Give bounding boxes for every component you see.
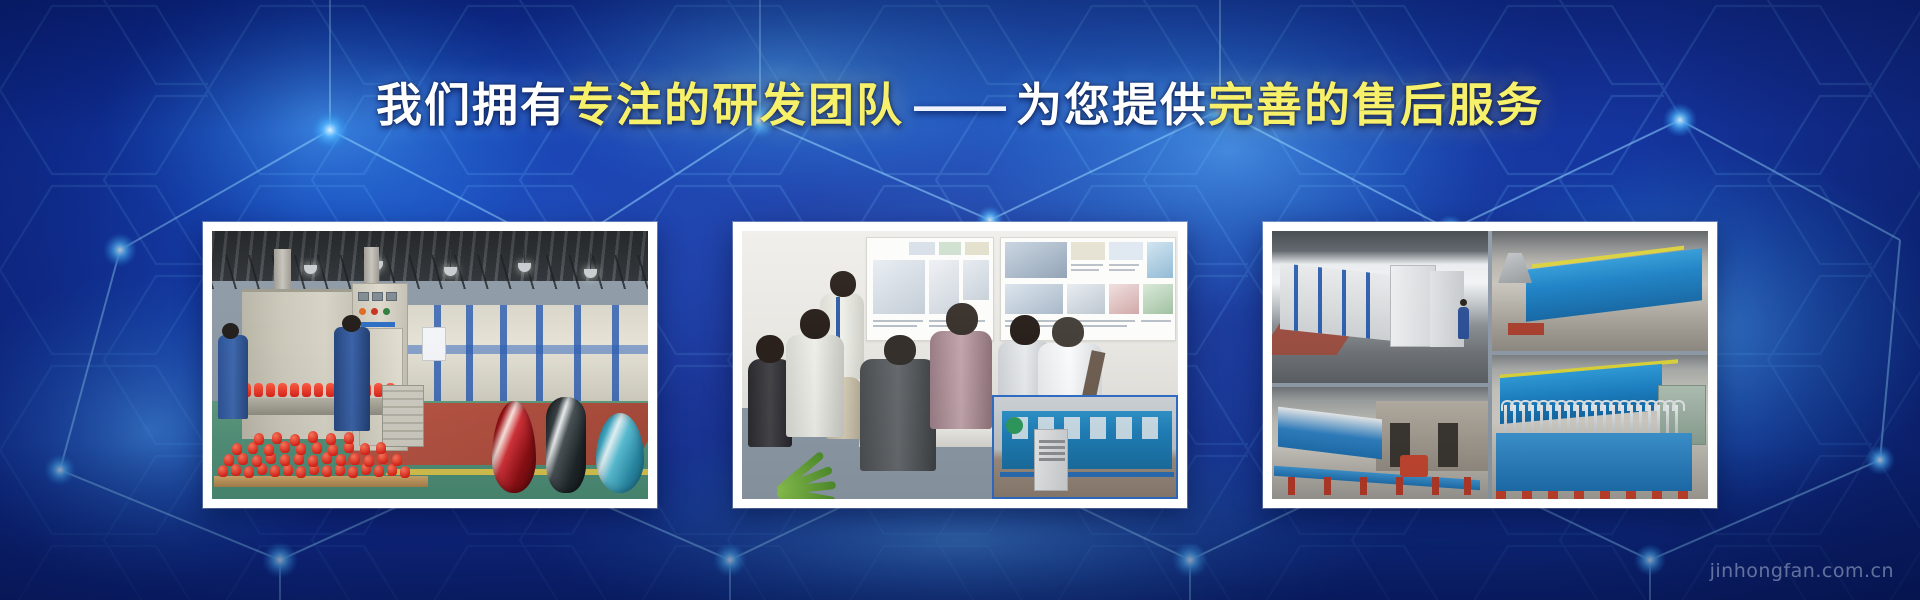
headline-segment-3: 为您提供 xyxy=(1016,79,1208,131)
headline-dash: —— xyxy=(904,79,1016,131)
worker-head xyxy=(342,315,361,332)
site-watermark: jinhongfan.com.cn xyxy=(1710,560,1894,582)
collage-panel-workshop-line xyxy=(1272,231,1488,383)
headline-segment-4: 完善的售后服务 xyxy=(1208,79,1544,131)
conveyor-rail xyxy=(1000,472,1174,477)
attendee-head xyxy=(756,335,784,363)
attendee-head xyxy=(800,309,830,339)
collage-panel-conveyor-line xyxy=(1272,387,1488,499)
customer-meeting-photo xyxy=(742,231,1178,499)
collage-panel-hanger-line xyxy=(1492,355,1708,499)
customer-meeting-photo-card[interactable] xyxy=(733,222,1187,508)
control-cabinet xyxy=(1034,429,1068,491)
production-line-photo-card[interactable] xyxy=(203,222,657,508)
worker-head xyxy=(222,323,239,339)
glass-vase-black xyxy=(546,397,586,493)
equipment-inset-photo xyxy=(992,395,1178,499)
equipment-collage-photo xyxy=(1272,231,1708,499)
attendee-body xyxy=(930,331,992,429)
conveyor-belt xyxy=(224,398,396,415)
red-bottle-heap xyxy=(214,433,428,479)
attendee-body-back xyxy=(860,359,936,471)
attendee-head-back xyxy=(884,335,916,365)
production-line-photo xyxy=(212,231,648,499)
collage-panel-blue-oven xyxy=(1492,231,1708,351)
oven-document-sheet xyxy=(422,327,446,361)
hero-banner: 我们拥有专注的研发团队——为您提供完善的售后服务 xyxy=(0,0,1920,600)
headline-segment-1: 我们拥有 xyxy=(376,79,568,131)
blue-production-line xyxy=(1002,411,1172,469)
headline-segment-2: 专注的研发团队 xyxy=(568,79,904,131)
attendee-head xyxy=(946,303,978,335)
banner-headline: 我们拥有专注的研发团队——为您提供完善的售后服务 xyxy=(0,82,1920,128)
attendee-head xyxy=(1052,317,1084,347)
equipment-collage-photo-card[interactable] xyxy=(1263,222,1717,508)
photo-card-row xyxy=(0,222,1920,508)
bottle-row-on-conveyor xyxy=(230,383,396,399)
green-reel xyxy=(1006,417,1023,434)
palm-plant xyxy=(744,403,856,499)
factory-worker xyxy=(218,335,248,419)
exhaust-stack xyxy=(274,249,291,293)
standing-presenter-head xyxy=(830,271,856,297)
attendee-head xyxy=(1010,315,1040,345)
factory-worker xyxy=(334,327,370,431)
